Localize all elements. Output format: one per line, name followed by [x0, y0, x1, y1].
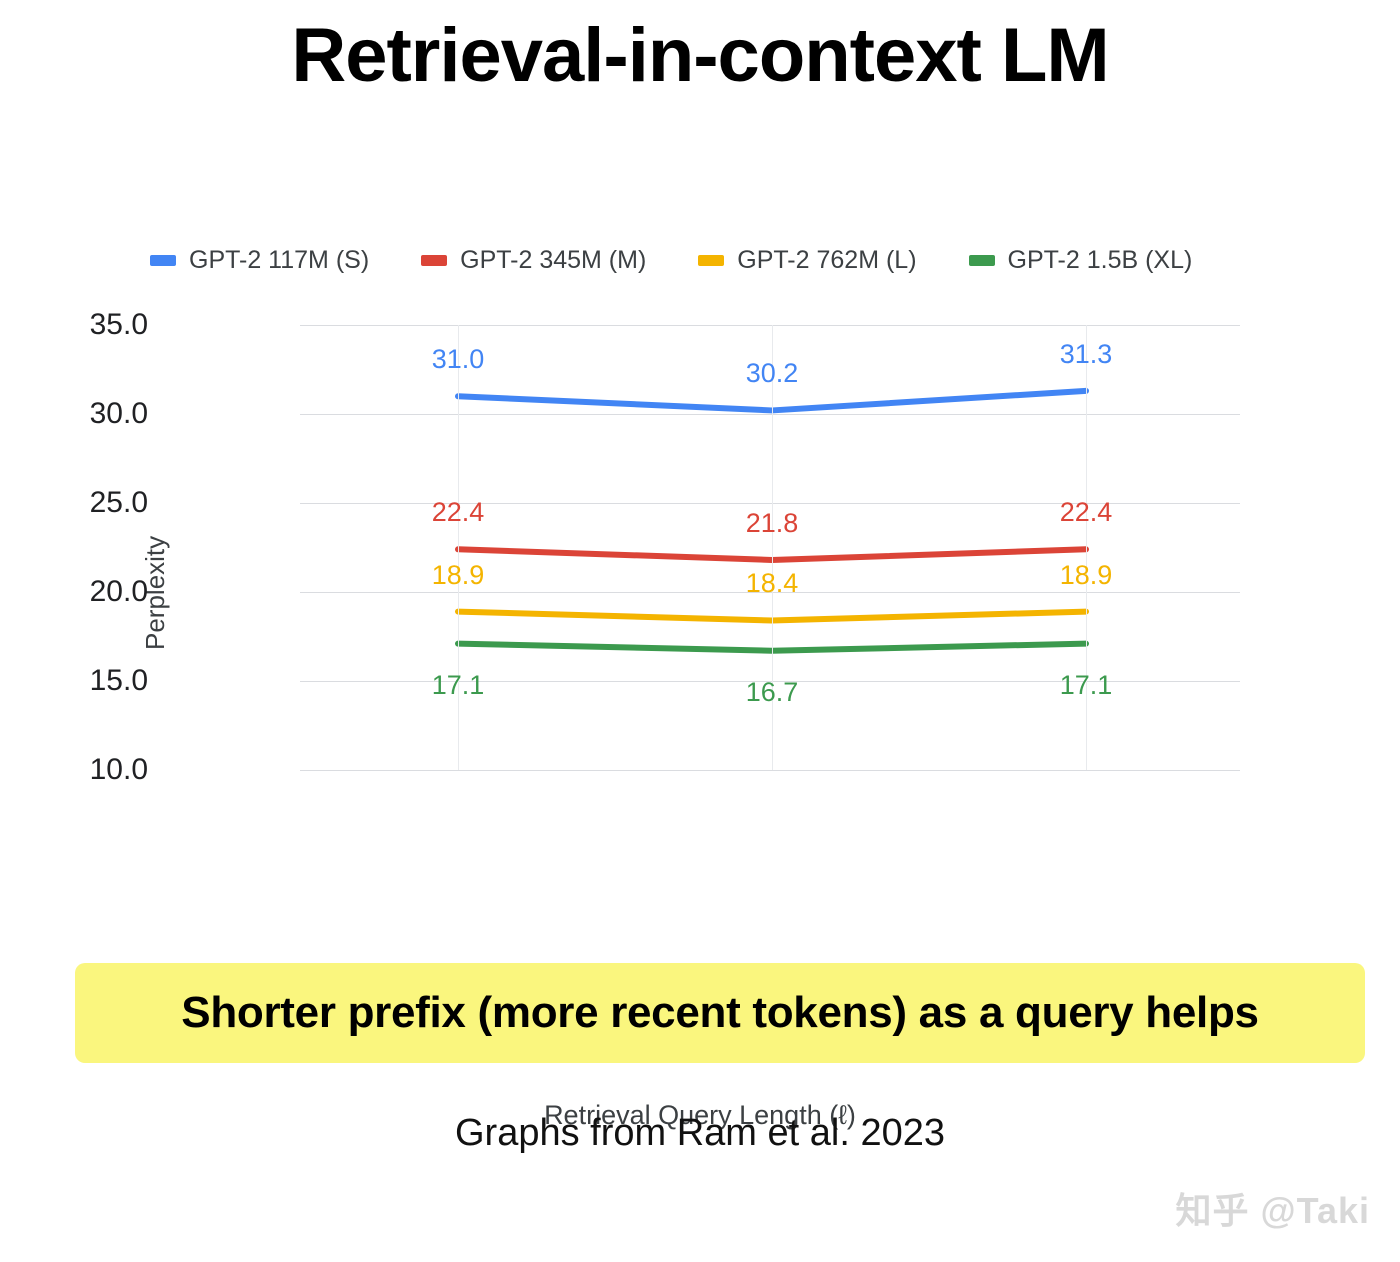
data-point-label: 18.9 — [432, 560, 485, 591]
y-axis-tick: 15.0 — [0, 664, 148, 698]
legend-item-3[interactable]: GPT-2 1.5B (XL) — [969, 246, 1193, 275]
data-point-label: 16.7 — [746, 677, 799, 708]
legend-label: GPT-2 1.5B (XL) — [1008, 246, 1193, 275]
y-axis-tick: 25.0 — [0, 486, 148, 520]
y-axis-tick: 35.0 — [0, 308, 148, 342]
y-axis-tick: 30.0 — [0, 397, 148, 431]
y-axis-tick: 20.0 — [0, 575, 148, 609]
caption-text: Shorter prefix (more recent tokens) as a… — [181, 988, 1258, 1038]
legend-swatch-icon — [150, 255, 176, 266]
watermark: 知乎 @Taki — [1176, 1182, 1370, 1234]
legend-item-2[interactable]: GPT-2 762M (L) — [698, 246, 916, 275]
data-point-label: 18.4 — [746, 568, 799, 599]
data-point-label: 30.2 — [746, 358, 799, 389]
legend-label: GPT-2 345M (M) — [460, 246, 646, 275]
legend-item-1[interactable]: GPT-2 345M (M) — [421, 246, 646, 275]
highlight-caption: Shorter prefix (more recent tokens) as a… — [75, 963, 1365, 1063]
data-point-label: 17.1 — [1060, 670, 1113, 701]
data-point-label: 18.9 — [1060, 560, 1113, 591]
data-point-label: 31.3 — [1060, 339, 1113, 370]
y-axis-tick: 10.0 — [0, 753, 148, 787]
gridline — [300, 325, 1240, 326]
source-note: Graphs from Ram et al. 2023 — [0, 1112, 1400, 1155]
category-gridline — [458, 325, 459, 770]
data-point-label: 31.0 — [432, 344, 485, 375]
data-point-label: 17.1 — [432, 670, 485, 701]
data-point-label: 21.8 — [746, 508, 799, 539]
data-point-label: 22.4 — [1060, 497, 1113, 528]
category-gridline — [1086, 325, 1087, 770]
legend-label: GPT-2 762M (L) — [737, 246, 916, 275]
legend-swatch-icon — [421, 255, 447, 266]
data-point-label: 22.4 — [432, 497, 485, 528]
gridline — [300, 414, 1240, 415]
legend-swatch-icon — [969, 255, 995, 266]
perplexity-line-chart: GPT-2 117M (S)GPT-2 345M (M)GPT-2 762M (… — [0, 230, 1400, 930]
gridline — [300, 770, 1240, 771]
page-title: Retrieval-in-context LM — [0, 16, 1400, 96]
legend-label: GPT-2 117M (S) — [189, 246, 369, 275]
chart-legend: GPT-2 117M (S)GPT-2 345M (M)GPT-2 762M (… — [150, 240, 1270, 280]
legend-item-0[interactable]: GPT-2 117M (S) — [150, 246, 369, 275]
legend-swatch-icon — [698, 255, 724, 266]
